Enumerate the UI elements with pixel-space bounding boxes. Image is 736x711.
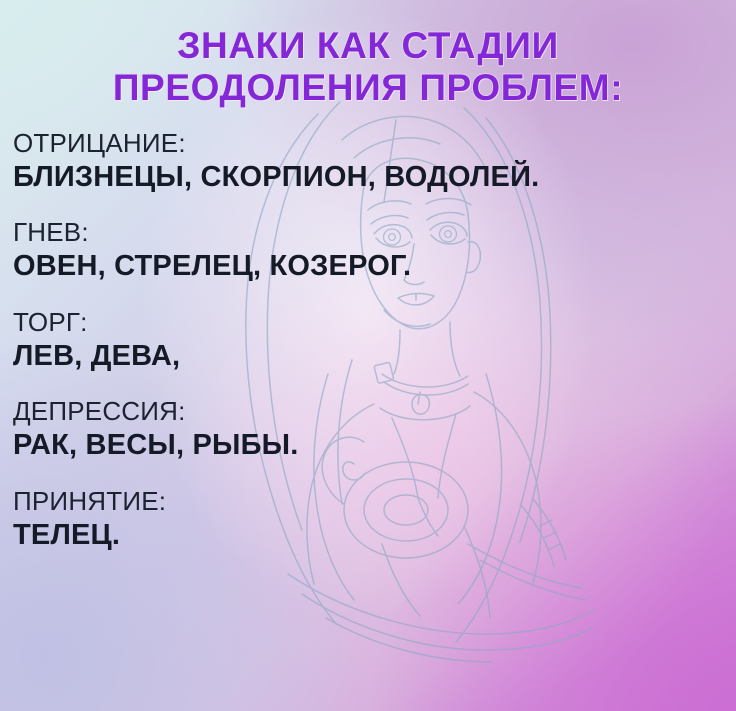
poster-content: ЗНАКИ КАК СТАДИИ ПРЕОДОЛЕНИЯ ПРОБЛЕМ: ОТ… — [0, 0, 736, 711]
stage-label-denial: ОТРИЦАНИЕ: — [13, 128, 736, 159]
stage-signs-acceptance: ТЕЛЕЦ. — [13, 518, 736, 553]
stages-list: ОТРИЦАНИЕ: БЛИЗНЕЦЫ, СКОРПИОН, ВОДОЛЕЙ. … — [13, 128, 736, 552]
stage-signs-anger: ОВЕН, СТРЕЛЕЦ, КОЗЕРОГ. — [13, 249, 736, 284]
poster-card: ЗНАКИ КАК СТАДИИ ПРЕОДОЛЕНИЯ ПРОБЛЕМ: ОТ… — [0, 0, 736, 711]
stage-bargaining: ТОРГ: ЛЕВ, ДЕВА, — [13, 307, 736, 373]
stage-label-anger: ГНЕВ: — [13, 217, 736, 248]
stage-label-bargaining: ТОРГ: — [13, 307, 736, 338]
stage-anger: ГНЕВ: ОВЕН, СТРЕЛЕЦ, КОЗЕРОГ. — [13, 217, 736, 283]
stage-label-depression: ДЕПРЕССИЯ: — [13, 396, 736, 427]
stage-depression: ДЕПРЕССИЯ: РАК, ВЕСЫ, РЫБЫ. — [13, 396, 736, 462]
stage-acceptance: ПРИНЯТИЕ: ТЕЛЕЦ. — [13, 486, 736, 552]
stage-signs-depression: РАК, ВЕСЫ, РЫБЫ. — [13, 428, 736, 463]
stage-signs-bargaining: ЛЕВ, ДЕВА, — [13, 339, 736, 374]
title-line-2: ПРЕОДОЛЕНИЯ ПРОБЛЕМ: — [0, 69, 736, 107]
page-title: ЗНАКИ КАК СТАДИИ ПРЕОДОЛЕНИЯ ПРОБЛЕМ: — [0, 27, 736, 106]
title-line-1: ЗНАКИ КАК СТАДИИ — [0, 27, 736, 65]
stage-signs-denial: БЛИЗНЕЦЫ, СКОРПИОН, ВОДОЛЕЙ. — [13, 160, 736, 195]
stage-denial: ОТРИЦАНИЕ: БЛИЗНЕЦЫ, СКОРПИОН, ВОДОЛЕЙ. — [13, 128, 736, 194]
stage-label-acceptance: ПРИНЯТИЕ: — [13, 486, 736, 517]
